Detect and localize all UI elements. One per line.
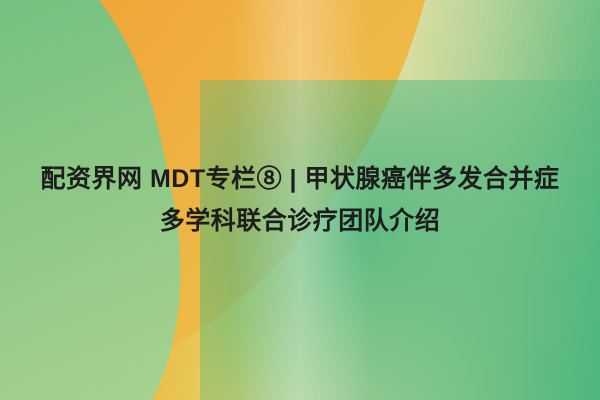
banner-image: 配资界网 MDT专栏⑧ | 甲状腺癌伴多发合并症 多学科联合诊疗团队介绍 — [0, 0, 600, 400]
banner-title: 配资界网 MDT专栏⑧ | 甲状腺癌伴多发合并症 多学科联合诊疗团队介绍 — [0, 0, 600, 400]
title-line-2: 多学科联合诊疗团队介绍 — [160, 200, 441, 242]
title-line-1: 配资界网 MDT专栏⑧ | 甲状腺癌伴多发合并症 — [41, 158, 560, 200]
